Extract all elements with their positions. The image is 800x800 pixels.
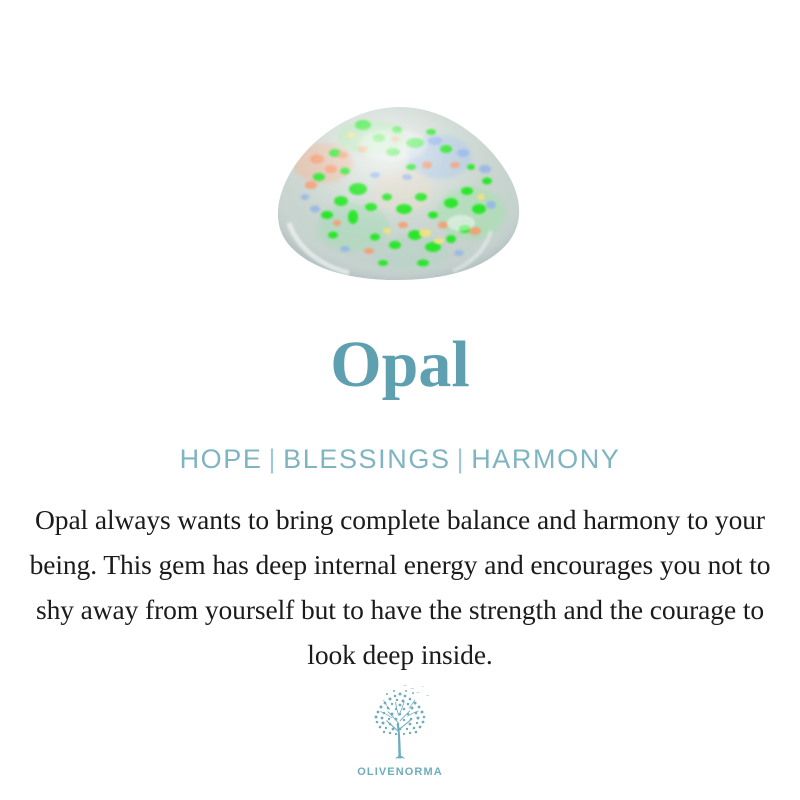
gem-description: Opal always wants to bring complete bala…	[14, 497, 786, 677]
keyword-harmony: HARMONY	[471, 444, 620, 474]
brand-logo: OLIVENORMA	[0, 684, 800, 778]
keyword-separator-2: |	[451, 444, 472, 474]
gemstone-info-card: Opal HOPE|BLESSINGS|HARMONY Opal always …	[0, 0, 800, 800]
opal-cabochon-icon	[275, 105, 525, 281]
keyword-separator-1: |	[262, 444, 283, 474]
keyword-blessings: BLESSINGS	[283, 444, 450, 474]
page-title: Opal	[0, 332, 800, 398]
tree-logo-icon	[366, 684, 434, 764]
gemstone-image	[0, 95, 800, 290]
keyword-hope: HOPE	[180, 444, 263, 474]
gem-keywords: HOPE|BLESSINGS|HARMONY	[0, 444, 800, 475]
brand-name: OLIVENORMA	[357, 766, 443, 778]
